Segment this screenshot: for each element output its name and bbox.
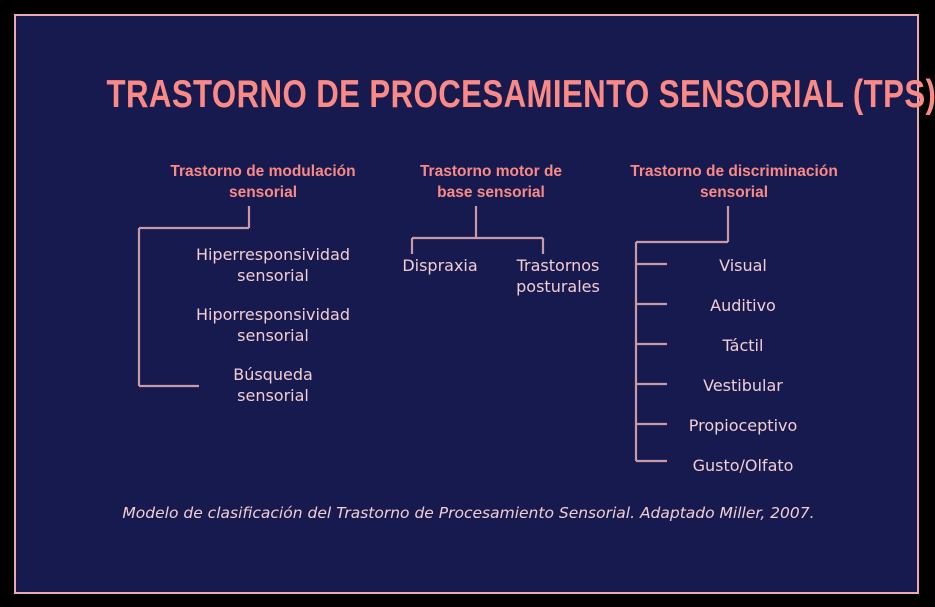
leaf-dispraxia-line1: Dispraxia bbox=[384, 255, 496, 276]
branch-header-modulacion: Trastorno de modulación sensorial bbox=[144, 161, 382, 203]
figure-caption: Modelo de clasificación del Trastorno de… bbox=[16, 502, 921, 524]
leaf-trastornos-posturales-line1: Trastornos bbox=[500, 255, 616, 276]
page-title: TRASTORNO DE PROCESAMIENTO SENSORIAL (TP… bbox=[107, 73, 831, 117]
branch-header-discriminacion: Trastorno de discriminación sensorial bbox=[604, 161, 864, 203]
leaf-gusto-olfato: Gusto/Olfato bbox=[628, 456, 858, 476]
leaf-hiporresponsividad: Hiporresponsividad sensorial bbox=[164, 304, 382, 346]
leaf-hiporresponsividad-line2: sensorial bbox=[164, 325, 382, 346]
branch-header-motor: Trastorno motor de base sensorial bbox=[384, 161, 598, 203]
poster-canvas: TRASTORNO DE PROCESAMIENTO SENSORIAL (TP… bbox=[0, 0, 935, 607]
leaf-auditivo: Auditivo bbox=[628, 296, 858, 316]
branch-header-discriminacion-line2: sensorial bbox=[604, 182, 864, 203]
leaf-trastornos-posturales: Trastornos posturales bbox=[500, 255, 616, 297]
leaf-dispraxia: Dispraxia bbox=[384, 255, 496, 276]
leaf-propioceptivo: Propioceptivo bbox=[628, 416, 858, 436]
leaf-busqueda-sensorial: Búsqueda sensorial bbox=[164, 364, 382, 406]
branch-header-motor-line2: base sensorial bbox=[384, 182, 598, 203]
leaf-busqueda-sensorial-line1: Búsqueda bbox=[164, 364, 382, 385]
leaf-vestibular: Vestibular bbox=[628, 376, 858, 396]
leaf-hiperresponsividad: Hiperresponsividad sensorial bbox=[164, 244, 382, 286]
leaf-busqueda-sensorial-line2: sensorial bbox=[164, 385, 382, 406]
leaf-tactil: Táctil bbox=[628, 336, 858, 356]
poster-panel: TRASTORNO DE PROCESAMIENTO SENSORIAL (TP… bbox=[14, 14, 919, 594]
leaf-hiperresponsividad-line1: Hiperresponsividad bbox=[164, 244, 382, 265]
branch-header-discriminacion-line1: Trastorno de discriminación bbox=[604, 161, 864, 182]
leaf-trastornos-posturales-line2: posturales bbox=[500, 276, 616, 297]
branch-header-motor-line1: Trastorno motor de bbox=[384, 161, 598, 182]
leaf-hiperresponsividad-line2: sensorial bbox=[164, 265, 382, 286]
leaf-visual: Visual bbox=[628, 256, 858, 276]
branch-header-modulacion-line2: sensorial bbox=[144, 182, 382, 203]
leaf-hiporresponsividad-line1: Hiporresponsividad bbox=[164, 304, 382, 325]
branch-header-modulacion-line1: Trastorno de modulación bbox=[144, 161, 382, 182]
